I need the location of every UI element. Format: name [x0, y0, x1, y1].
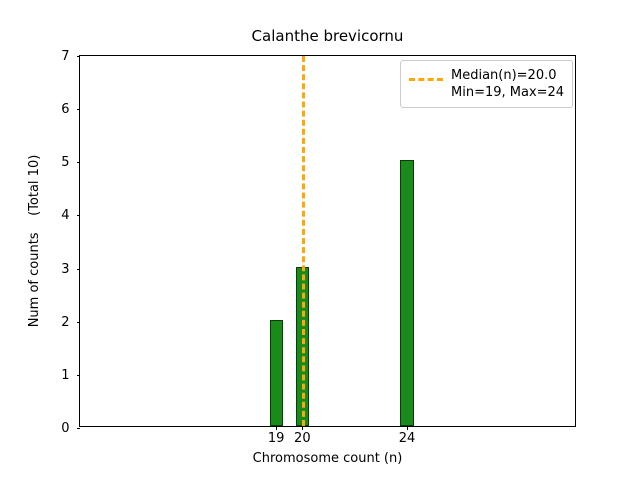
ytick-label-5: 5 — [61, 156, 69, 170]
ytick-7: 7 — [77, 56, 81, 57]
ytick-label-2: 2 — [61, 316, 69, 330]
bar-24 — [400, 160, 413, 426]
ytick-label-7: 7 — [61, 50, 69, 64]
xtick-label-24: 24 — [399, 431, 416, 446]
legend-item-median: Median(n)=20.0 — [451, 67, 564, 84]
ytick-3: 3 — [77, 269, 81, 270]
xtick-label-20: 20 — [294, 431, 311, 446]
chart-title: Calanthe brevicornu — [79, 27, 576, 45]
ytick-5: 5 — [77, 162, 81, 163]
chart-figure: Calanthe brevicornu 0 1 2 3 4 5 6 7 19 2… — [0, 0, 640, 480]
ytick-4: 4 — [77, 215, 81, 216]
ytick-0: 0 — [77, 428, 81, 429]
ytick-label-3: 3 — [61, 263, 69, 277]
median-line — [302, 56, 305, 426]
legend-text: Median(n)=20.0 Min=19, Max=24 — [451, 67, 564, 101]
xtick-19 — [276, 426, 277, 430]
ytick-1: 1 — [77, 375, 81, 376]
ytick-2: 2 — [77, 322, 81, 323]
xtick-20 — [302, 426, 303, 430]
ytick-6: 6 — [77, 109, 81, 110]
ytick-label-0: 0 — [61, 422, 69, 436]
plot-inner — [80, 56, 575, 426]
ytick-label-4: 4 — [61, 209, 69, 223]
plot-area: 0 1 2 3 4 5 6 7 19 20 24 — [79, 55, 576, 427]
ytick-label-1: 1 — [61, 369, 69, 383]
xtick-label-19: 19 — [268, 431, 285, 446]
y-axis-label: Num of counts (Total 10) — [25, 55, 45, 427]
xtick-24 — [407, 426, 408, 430]
x-axis-label: Chromosome count (n) — [79, 451, 576, 467]
legend-item-range: Min=19, Max=24 — [451, 84, 564, 101]
legend: Median(n)=20.0 Min=19, Max=24 — [400, 60, 573, 108]
ytick-label-6: 6 — [61, 103, 69, 117]
median-line-swatch-icon — [409, 70, 443, 86]
bar-19 — [270, 320, 283, 426]
